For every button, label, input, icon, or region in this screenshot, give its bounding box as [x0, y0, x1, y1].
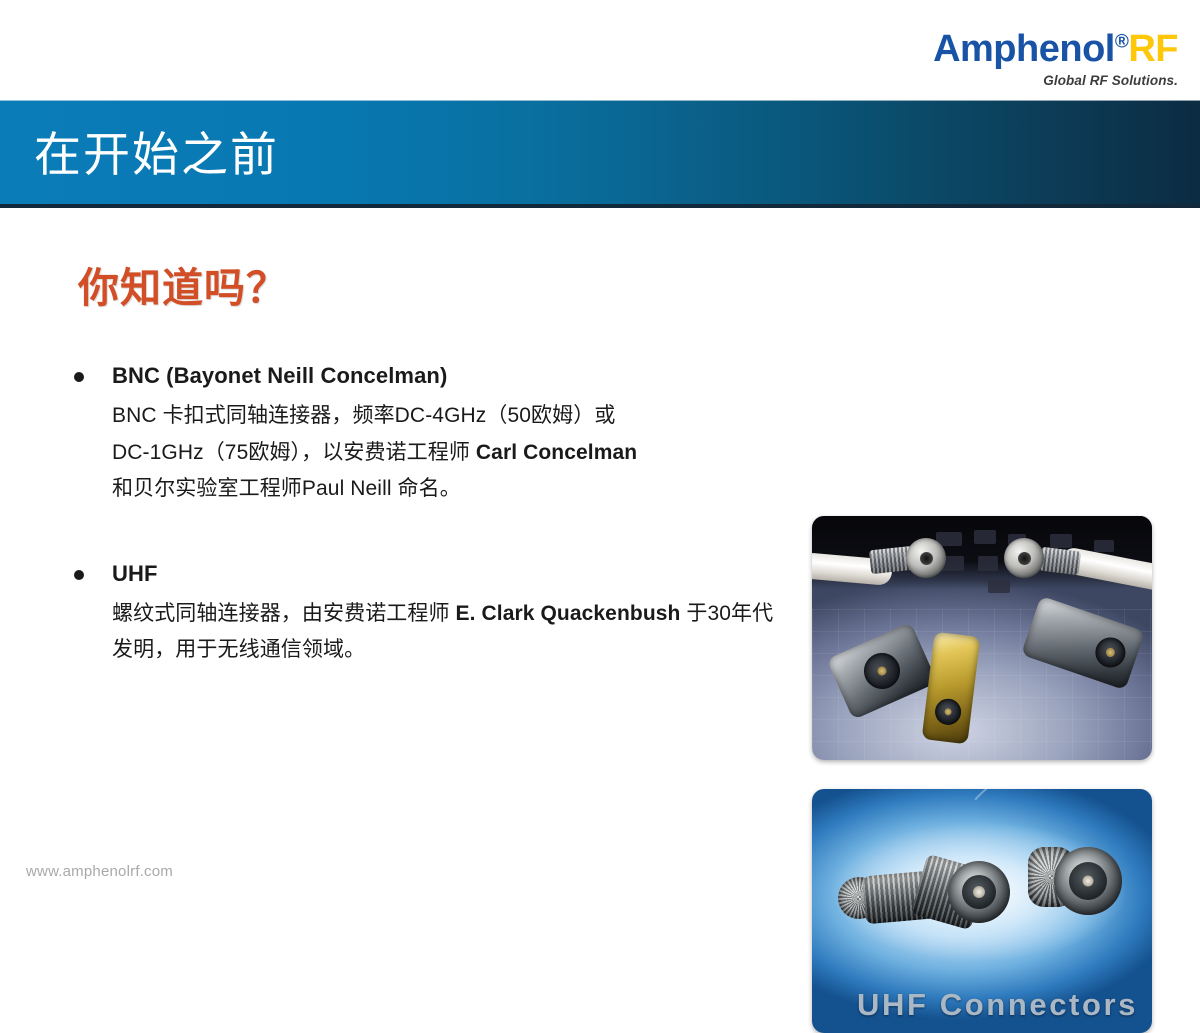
panel-square: [1094, 540, 1114, 552]
logo-amphenol-text: Amphenol: [933, 28, 1115, 70]
slide-content: 你知道吗？ BNC (Bayonet Neill Concelman) BNC …: [0, 208, 1200, 900]
bullet-dot-icon: [74, 570, 84, 580]
panel-square: [988, 580, 1010, 593]
bullet-body-line: 和贝尔实验室工程师Paul Neill 命名。: [112, 477, 461, 500]
bullet-title: UHF: [112, 561, 158, 587]
footer-website-url: www.amphenolrf.com: [26, 863, 173, 880]
uhf-connector-face: [948, 861, 1010, 923]
registered-trademark-icon: ®: [1115, 31, 1129, 52]
logo-tagline: Global RF Solutions.: [933, 74, 1178, 88]
list-item: UHF 螺纹式同轴连接器，由安费诺工程师 E. Clark Quackenbus…: [74, 561, 774, 669]
slide-canvas: Amphenol®RF Global RF Solutions. 在开始之前 你…: [0, 0, 1200, 900]
uhf-connectors-image: UHF Connectors: [812, 789, 1152, 1033]
amphenol-rf-logo: Amphenol®RF Global RF Solutions.: [933, 30, 1178, 88]
center-pin: [973, 886, 985, 898]
bullet-body: 螺纹式同轴连接器，由安费诺工程师 E. Clark Quackenbush 于3…: [112, 596, 774, 668]
bullet-heading-row: UHF: [74, 561, 774, 587]
center-pin: [1083, 876, 1094, 887]
page-title: 在开始之前: [0, 131, 279, 178]
bnc-plug: [906, 538, 946, 578]
uhf-connector-face: [1054, 847, 1122, 915]
bullet-body-emphasis: Carl Concelman: [476, 441, 637, 464]
bullet-body-line: DC-1GHz（75欧姆），以安费诺工程师: [112, 441, 476, 464]
bnc-connectors-image: [812, 516, 1152, 760]
cable-ferrule: [1039, 547, 1082, 576]
bullet-heading-row: BNC (Bayonet Neill Concelman): [74, 363, 774, 389]
section-subheading: 你知道吗？: [78, 268, 288, 309]
list-item: BNC (Bayonet Neill Concelman) BNC 卡扣式同轴连…: [74, 363, 774, 507]
bullet-dot-icon: [74, 372, 84, 382]
bullet-body-line: 螺纹式同轴连接器，由安费诺工程师: [112, 602, 456, 625]
bullet-title: BNC (Bayonet Neill Concelman): [112, 363, 447, 389]
bullet-body-emphasis: E. Clark Quackenbush: [456, 602, 681, 625]
bullet-body: BNC 卡扣式同轴连接器，频率DC-4GHz（50欧姆）或 DC-1GHz（75…: [112, 398, 774, 506]
panel-square: [974, 530, 996, 544]
slide-title-banner: 在开始之前: [0, 100, 1200, 204]
bnc-plug: [1004, 538, 1044, 578]
bullet-list: BNC (Bayonet Neill Concelman) BNC 卡扣式同轴连…: [74, 363, 774, 668]
image-caption: UHF Connectors: [857, 987, 1138, 1023]
panel-square: [1050, 534, 1072, 548]
logo-wordmark: Amphenol®RF: [933, 30, 1178, 68]
panel-square: [978, 556, 998, 571]
bullet-body-line: BNC 卡扣式同轴连接器，频率DC-4GHz（50欧姆）或: [112, 404, 615, 427]
logo-rf-text: RF: [1128, 28, 1178, 70]
